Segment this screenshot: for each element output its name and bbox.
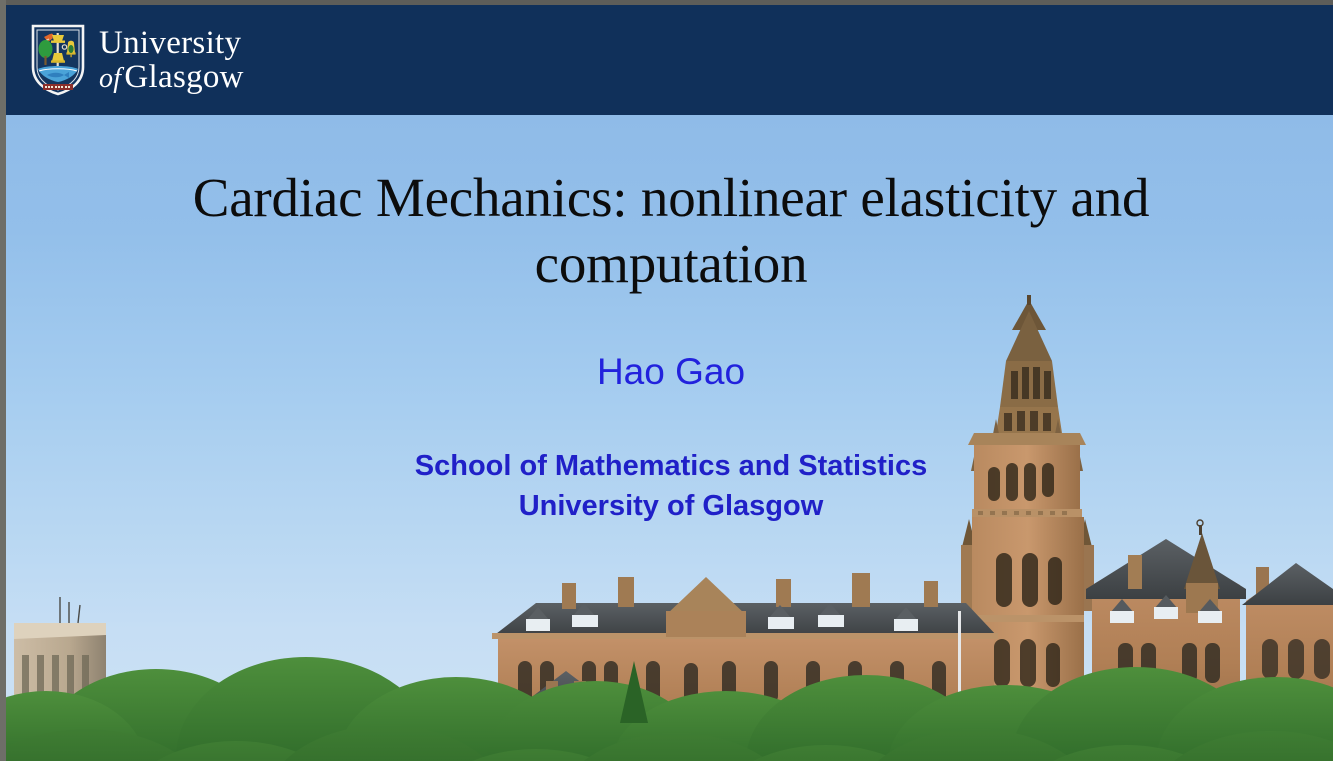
wordmark-line-1: University — [99, 27, 244, 60]
window-bezel-left — [0, 0, 6, 761]
background-photo — [6, 115, 1333, 761]
wordmark-of: of — [99, 63, 124, 94]
campus-scene-illustration — [6, 115, 1333, 761]
university-wordmark: University ofGlasgow — [99, 27, 244, 94]
window-bezel-top — [0, 0, 1333, 5]
wordmark-line-2: ofGlasgow — [99, 61, 244, 94]
brand-header-bar: University ofGlasgow — [6, 5, 1333, 115]
title-slide: Cardiac Mechanics: nonlinear elasticity … — [0, 0, 1333, 761]
university-logo: University ofGlasgow — [30, 23, 244, 97]
crest-motto-scroll — [43, 84, 73, 90]
university-of-glasgow-crest-icon — [30, 23, 86, 97]
wordmark-glasgow: Glasgow — [124, 59, 243, 95]
